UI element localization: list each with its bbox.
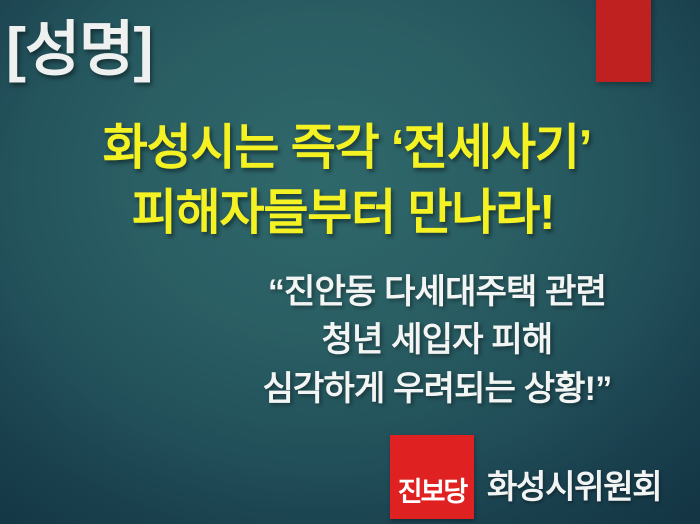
quote-line-3: 심각하게 우려되는 상황!”	[198, 365, 676, 413]
party-committee-label: 화성시위원회	[487, 470, 661, 519]
party-logo-mark: 진보당	[390, 435, 474, 519]
headline: 화성시는 즉각 ‘전세사기’ 피해자들부터 만나라!	[0, 116, 700, 246]
top-red-accent-bar	[596, 0, 651, 82]
headline-line-1: 화성시는 즉각 ‘전세사기’	[0, 116, 700, 181]
headline-line-2: 피해자들부터 만나라!	[0, 181, 700, 246]
page-title: [성명]	[6, 16, 152, 83]
quote-block: “진안동 다세대주택 관련 청년 세입자 피해 심각하게 우려되는 상황!”	[198, 268, 676, 413]
party-logo-lockup: 진보당 화성시위원회	[390, 435, 661, 519]
quote-line-1: “진안동 다세대주택 관련	[198, 268, 676, 316]
quote-line-2: 청년 세입자 피해	[198, 316, 676, 364]
statement-poster: [성명] 화성시는 즉각 ‘전세사기’ 피해자들부터 만나라! “진안동 다세대…	[0, 0, 700, 524]
party-logo-label: 진보당	[398, 479, 467, 519]
